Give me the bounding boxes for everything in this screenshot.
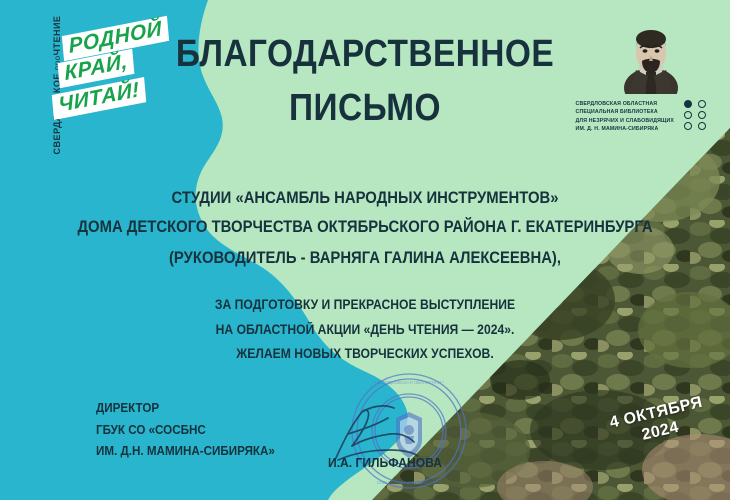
signer-title-line-2: ГБУК СО «СОСБНС: [96, 420, 275, 442]
recipient-line-1: СТУДИИ «АНСАМБЛЬ НАРОДНЫХ ИНСТРУМЕНТОВ»: [37, 189, 694, 208]
recipient-line-2: ДОМА ДЕТСКОГО ТВОРЧЕСТВА ОКТЯБРЬСКОГО РА…: [37, 218, 694, 237]
braille-dot: [698, 111, 706, 119]
achievement-line-3: ЖЕЛАЕМ НОВЫХ ТВОРЧЕСКИХ УСПЕХОВ.: [37, 346, 694, 361]
braille-dots-icon: [684, 100, 708, 130]
braille-dot: [698, 100, 706, 108]
title-line-2: ПИСЬМО: [44, 82, 686, 136]
signer-name: И.А. ГИЛЬФАНОВА: [328, 455, 442, 470]
achievement-line-2: НА ОБЛАСТНОЙ АКЦИИ «ДЕНЬ ЧТЕНИЯ — 2024».: [37, 322, 694, 337]
signer-title-line-3: ИМ. Д.Н. МАМИНА-СИБИРЯКА»: [96, 441, 275, 463]
signer-title-block: ДИРЕКТОР ГБУК СО «СОСБНС ИМ. Д.Н. МАМИНА…: [96, 398, 275, 463]
achievement-line-1: ЗА ПОДГОТОВКУ И ПРЕКРАСНОЕ ВЫСТУПЛЕНИЕ: [37, 297, 694, 312]
certificate-page: СВЕРДЛОВСКОЕ проЧТЕНИЕ РОДНОЙ КРАЙ, ЧИТА…: [0, 0, 730, 500]
recipient-line-3: (РУКОВОДИТЕЛЬ - ВАРНЯГА ГАЛИНА АЛЕКСЕЕВН…: [37, 249, 694, 268]
page-title: БЛАГОДАРСТВЕННОЕ ПИСЬМО: [44, 28, 686, 136]
svg-text:* СВЕРДЛОВСКАЯ ОБЛАСТНАЯ *: * СВЕРДЛОВСКАЯ ОБЛАСТНАЯ *: [374, 380, 444, 385]
signer-title-line-1: ДИРЕКТОР: [96, 398, 275, 420]
title-line-1: БЛАГОДАРСТВЕННОЕ: [176, 33, 554, 75]
svg-text:СПЕЦИАЛЬНАЯ БИБЛИОТЕКА: СПЕЦИАЛЬНАЯ БИБЛИОТЕКА: [377, 480, 441, 485]
braille-dot: [698, 122, 706, 130]
